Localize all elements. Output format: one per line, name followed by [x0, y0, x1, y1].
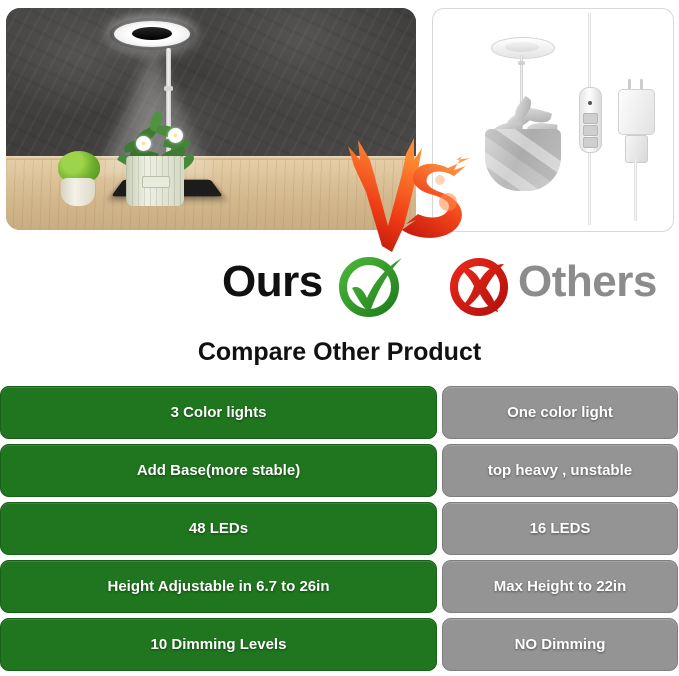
plant-flower — [136, 136, 151, 151]
comparison-table: 3 Color lightsOne color lightAdd Base(mo… — [0, 386, 679, 676]
others-feature-cell: top heavy , unstable — [442, 444, 678, 497]
vs-graphic — [344, 130, 476, 258]
controller-button — [583, 137, 598, 148]
small-plant-pot — [61, 178, 95, 206]
competitor-plant-pot — [485, 129, 561, 191]
table-row: Add Base(more stable)top heavy , unstabl… — [0, 444, 679, 497]
lamp-pole-joint — [164, 86, 173, 91]
others-label: Others — [518, 260, 657, 304]
cross-mark-icon — [446, 256, 518, 318]
others-feature-cell: Max Height to 22in — [442, 560, 678, 613]
plant-flower — [168, 128, 183, 143]
verdict-label-row: Ours Others — [0, 256, 679, 318]
others-feature-cell: 16 LEDS — [442, 502, 678, 555]
controller-button — [583, 113, 598, 124]
table-row: 48 LEDs16 LEDS — [0, 502, 679, 555]
table-row: Height Adjustable in 6.7 to 26inMax Heig… — [0, 560, 679, 613]
controller-button — [583, 125, 598, 136]
product-comparison-hero — [0, 0, 679, 258]
page-title: Compare Other Product — [0, 338, 679, 367]
competitor-lamp-pole-joint — [518, 61, 525, 65]
check-mark-icon — [336, 254, 408, 318]
ours-feature-cell: 48 LEDs — [0, 502, 437, 555]
plant-pot-label — [142, 176, 170, 188]
table-row: 3 Color lightsOne color light — [0, 386, 679, 439]
competitor-ring-lamp-center — [505, 42, 539, 52]
usb-cable — [634, 159, 637, 221]
ours-label: Ours — [222, 260, 323, 304]
ours-feature-cell: 10 Dimming Levels — [0, 618, 437, 671]
ours-feature-cell: Add Base(more stable) — [0, 444, 437, 497]
ring-lamp-center — [132, 27, 172, 40]
ours-feature-cell: Height Adjustable in 6.7 to 26in — [0, 560, 437, 613]
ours-feature-cell: 3 Color lights — [0, 386, 437, 439]
wall-adapter — [618, 89, 655, 135]
controller-indicator-light — [588, 101, 592, 105]
others-feature-cell: NO Dimming — [442, 618, 678, 671]
table-row: 10 Dimming LevelsNO Dimming — [0, 618, 679, 671]
others-feature-cell: One color light — [442, 386, 678, 439]
